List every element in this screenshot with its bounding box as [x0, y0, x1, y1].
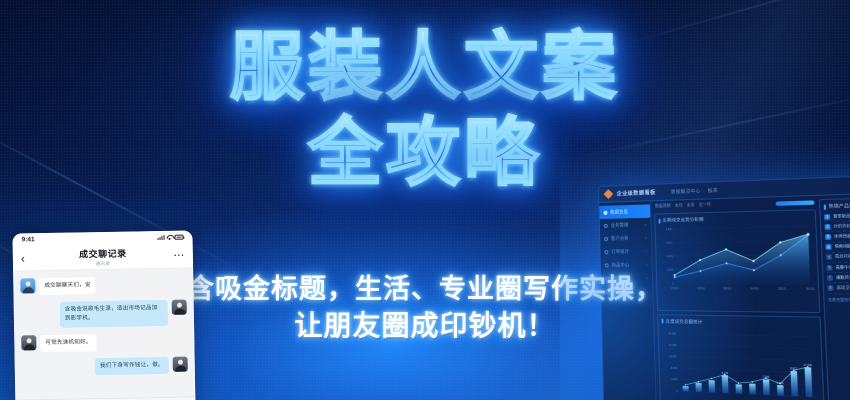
- sidebar-item-label: 营销推广: [612, 275, 630, 281]
- dashboard-mockup: 企业级数据看板 数据概览中心 报表 数据总览 业务管理 ›: [598, 174, 850, 400]
- svg-text:03月01: 03月01: [723, 286, 732, 290]
- dashboard-topnav[interactable]: 数据概览中心 报表: [671, 187, 718, 195]
- svg-text:8,000: 8,000: [666, 229, 673, 231]
- headline-block: 服装人文案 服装人文案 全攻略 全攻略: [0, 30, 850, 190]
- rank-panel-title: 热销产品排行榜: [828, 202, 850, 210]
- topnav-item-1[interactable]: 报表: [708, 187, 718, 194]
- chat-message: 含吸金说歌毛生录，造出市场记品加到影学机。: [21, 300, 187, 329]
- rank-number: 8: [827, 285, 833, 291]
- chevron-right-icon: ›: [646, 276, 648, 281]
- sidebar-item-label: 数据总览: [610, 209, 628, 216]
- sidebar-item-label: 商品中心: [612, 262, 630, 268]
- rank-name: 针织开衫外套: [833, 223, 850, 229]
- promo-banner: 服装人文案 服装人文案 全攻略 全攻略 含吸金标题，生活、专业圈写作实操， 让朋…: [0, 0, 850, 400]
- status-icons: [158, 235, 184, 240]
- rank-row[interactable]: 2针织开衫外套1,104: [824, 221, 850, 232]
- chat-message: 可觉先诛机知好。: [21, 333, 187, 353]
- dot-icon: [605, 289, 609, 293]
- sidebar-item-4[interactable]: 商品中心 ›: [601, 258, 652, 272]
- phone-nav-subtitle: 通讯录: [35, 260, 171, 268]
- headline-line-2: 全攻略 全攻略: [0, 116, 850, 190]
- sidebar-item-2[interactable]: 客户分析 ›: [600, 231, 651, 245]
- rank-row[interactable]: 5真丝衬衫上衣731: [826, 252, 850, 263]
- rank-number: 6: [826, 265, 832, 271]
- topnav-item-0[interactable]: 数据概览中心: [671, 188, 700, 195]
- svg-text:06月01: 06月01: [806, 287, 815, 292]
- sidebar-item-6[interactable]: 系统设置: [601, 285, 652, 299]
- rank-number: 1: [824, 214, 830, 220]
- light-ray: [600, 0, 850, 52]
- rank-row[interactable]: 8运动卫衣套头512: [827, 283, 850, 294]
- avatar: [172, 300, 187, 315]
- rank-name: 春季新品连衣裙: [833, 213, 850, 219]
- accent-tick-icon: [661, 319, 663, 324]
- svg-text:20,000: 20,000: [668, 333, 676, 335]
- line-chart-area: 8,0006,0004,0002,000001月0102月0103月0104月0…: [659, 222, 815, 292]
- avatar: [173, 357, 188, 372]
- sidebar-item-5[interactable]: 营销推广 ›: [601, 271, 652, 285]
- sidebar-item-label: 系统设置: [612, 288, 630, 294]
- accent-tick-icon: [658, 218, 660, 223]
- chevron-right-icon: ›: [646, 249, 648, 254]
- chat-bubble: 含吸金说歌毛生录，造出市场记品加到影学机。: [60, 300, 168, 328]
- bar-chart-card: 月度成交总额统计 20,00016,00012,0008,0004,00006,…: [657, 314, 825, 400]
- rank-row[interactable]: 1春季新品连衣裙1,286: [824, 211, 850, 223]
- rank-name: 通勤风半身裙: [836, 275, 850, 281]
- chevron-left-icon[interactable]: ‹: [21, 252, 35, 264]
- svg-text:12,000: 12,000: [669, 356, 677, 358]
- chat-bubble: 可觉先诛机知好。: [40, 334, 97, 352]
- avatar: [20, 278, 35, 293]
- phone-nav-title: 成交聊记录: [35, 246, 171, 261]
- filter-2[interactable]: 本季: [687, 203, 695, 208]
- line-chart-title: 近期成交走势分析图: [663, 216, 704, 223]
- svg-text:01月01: 01月01: [671, 286, 680, 290]
- phone-mockup: 9:41 ‹ 成交聊记录 通讯录 ⋯ 成交聊聊天们，说 含吸金说歌毛生录，造出市: [12, 230, 195, 400]
- accent-tick-icon: [824, 204, 826, 210]
- svg-text:0: 0: [672, 283, 674, 285]
- bar-chart-area: 20,00016,00012,0008,0004,00006,1787,2994…: [662, 327, 820, 400]
- rank-row[interactable]: 3休闲西装套装968: [825, 231, 850, 242]
- svg-text:6,000: 6,000: [666, 242, 673, 244]
- dashboard-sidebar[interactable]: 数据总览 业务管理 › 客户分析 › 订单统计 ›: [599, 201, 657, 400]
- svg-text:0: 0: [676, 391, 678, 393]
- rank-number: 3: [825, 234, 831, 240]
- dot-icon: [604, 223, 608, 227]
- chat-message: 成交聊聊天们，说: [20, 276, 186, 296]
- svg-text:2,000: 2,000: [667, 270, 674, 272]
- bar-chart-title: 月度成交总额统计: [666, 318, 703, 325]
- rank-name: 运动卫衣套头: [836, 285, 850, 291]
- line-chart-svg: 8,0006,0004,0002,000001月0102月0103月0104月0…: [659, 222, 815, 292]
- wifi-icon: [166, 235, 172, 240]
- dashboard-body: 数据总览 业务管理 › 客户分析 › 订单统计 ›: [599, 194, 850, 400]
- svg-text:8,000: 8,000: [671, 367, 678, 369]
- bar-chart-svg: 20,00016,00012,0008,0004,00006,1787,2994…: [662, 327, 820, 400]
- svg-text:02月01: 02月01: [697, 286, 706, 290]
- rank-number: 7: [827, 275, 833, 281]
- rank-name: 休闲西装套装: [834, 233, 850, 239]
- sidebar-item-0[interactable]: 数据总览: [599, 204, 650, 219]
- dot-icon: [605, 263, 609, 267]
- phone-nav-bar: ‹ 成交聊记录 通讯录 ⋯: [13, 243, 193, 271]
- chat-message: 我们下身写作钱让，做。: [22, 357, 188, 377]
- rank-number: 5: [826, 255, 832, 261]
- chevron-right-icon: ›: [646, 262, 648, 267]
- chevron-right-icon: ›: [645, 235, 647, 240]
- rank-panel-title-row: 热销产品排行榜: [824, 202, 850, 210]
- dashboard-main: 数据周期 本月 本季 近一年 近期成交走势分析图 8,0006,000: [651, 194, 850, 400]
- sidebar-item-label: 客户分析: [611, 235, 629, 241]
- rank-number: 4: [825, 244, 831, 250]
- headline-line-1-shadow: 服装人文案: [3, 36, 850, 110]
- dot-icon: [605, 276, 609, 280]
- rank-number: 2: [825, 224, 831, 230]
- rank-name: 高腰牛仔短裤: [835, 265, 850, 271]
- filter-3[interactable]: 近一年: [699, 203, 711, 209]
- status-time: 9:41: [21, 236, 34, 243]
- rank-panel: 热销产品排行榜 1春季新品连衣裙1,2862针织开衫外套1,1043休闲西装套装…: [819, 197, 850, 400]
- headline-line-1: 服装人文案 服装人文案: [0, 30, 850, 104]
- chat-message-list[interactable]: 成交聊聊天们，说 含吸金说歌毛生录，造出市场记品加到影学机。 可觉先诛机知好。 …: [13, 268, 195, 399]
- phone-nav-title-wrap: 成交聊记录 通讯录: [35, 246, 171, 268]
- headline-line-2-text: 全攻略: [308, 111, 542, 194]
- dot-icon: [604, 250, 608, 254]
- sidebar-item-3[interactable]: 订单统计 ›: [600, 244, 651, 258]
- filter-apply-pill[interactable]: [776, 200, 815, 206]
- filter-1[interactable]: 本月: [675, 203, 683, 208]
- sidebar-item-1[interactable]: 业务管理 ›: [600, 218, 651, 232]
- rank-row[interactable]: 7通勤风半身裙590: [827, 273, 850, 283]
- dashboard-rank-column: 热销产品排行榜 1春季新品连衣裙1,2862针织开衫外套1,1043休闲西装套装…: [819, 197, 850, 400]
- light-ray: [560, 85, 850, 162]
- battery-icon: [174, 235, 183, 240]
- diamond-logo-icon: [604, 189, 614, 199]
- filter-0[interactable]: 数据周期: [655, 204, 671, 210]
- rank-list[interactable]: 1春季新品连衣裙1,2862针织开衫外套1,1043休闲西装套装9684棉麻阔腿…: [824, 211, 850, 294]
- sidebar-item-label: 订单统计: [611, 248, 629, 254]
- rank-name: 真丝衬衫上衣: [835, 254, 850, 260]
- svg-text:05月01: 05月01: [778, 286, 787, 291]
- chat-bubble: 成交聊聊天们，说: [39, 277, 96, 295]
- svg-text:4,000: 4,000: [667, 256, 674, 258]
- chat-bubble: 我们下身写作钱让，做。: [95, 357, 169, 375]
- rank-more-link[interactable]: 查看完整榜单 >: [828, 296, 850, 302]
- line-chart-card: 近期成交走势分析图 8,0006,0004,0002,000001月0102月0…: [654, 209, 820, 313]
- dashboard-brand: 企业级数据看板: [617, 189, 656, 198]
- chevron-right-icon: ›: [645, 222, 647, 227]
- signal-bars-icon: [158, 235, 165, 240]
- rank-row[interactable]: 4棉麻阔腿长裤842: [825, 242, 850, 253]
- dashboard-charts-column: 数据周期 本月 本季 近一年 近期成交走势分析图 8,0006,000: [654, 199, 826, 400]
- headline-line-1-text: 服装人文案: [230, 25, 620, 108]
- avatar: [21, 335, 36, 350]
- more-dots-icon[interactable]: ⋯: [171, 252, 185, 259]
- sidebar-item-label: 业务管理: [611, 222, 629, 228]
- rank-name: 棉麻阔腿长裤: [834, 244, 850, 250]
- rank-row[interactable]: 6高腰牛仔短裤655: [826, 263, 850, 274]
- dot-icon: [604, 236, 608, 240]
- svg-text:04月01: 04月01: [750, 286, 759, 290]
- dot-icon: [603, 210, 607, 214]
- svg-text:4,000: 4,000: [671, 379, 678, 381]
- svg-text:16,000: 16,000: [669, 345, 677, 347]
